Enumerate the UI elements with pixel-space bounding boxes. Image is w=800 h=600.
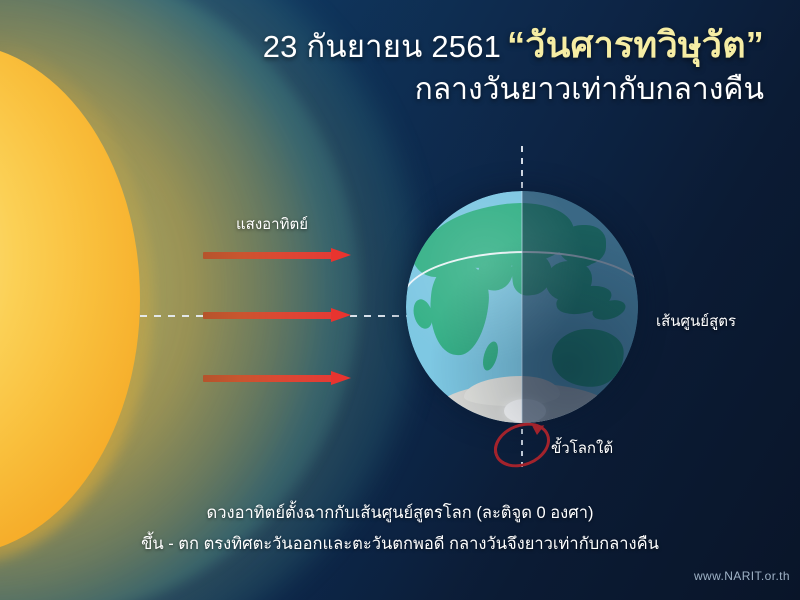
rotation-ring-overlap [487, 415, 557, 476]
arrow-head-icon [331, 248, 351, 262]
arrow-head-icon [331, 308, 351, 322]
earth-globe [406, 191, 638, 423]
arrow-shaft [203, 375, 335, 382]
page-title: 23 กันยายน 2561“วันศารทวิษุวัต” [0, 24, 764, 68]
page-subtitle: กลางวันยาวเท่ากับกลางคืน [0, 70, 764, 110]
label-equator: เส้นศูนย์สูตร [656, 309, 736, 333]
label-south-pole: ขั้วโลกใต้ [551, 436, 613, 460]
title-block: 23 กันยายน 2561“วันศารทวิษุวัต” กลางวันย… [0, 24, 790, 110]
earth-rotation-arrow-icon [493, 424, 551, 466]
footer-website-url[interactable]: www.NARIT.or.th [0, 569, 790, 583]
caption-line-2: ขึ้น - ตก ตรงทิศตะวันออกและตะวันตกพอดี ก… [0, 531, 800, 557]
title-date: 23 กันยายน 2561 [263, 29, 501, 64]
globe-shading-overlay [406, 191, 638, 423]
arrow-shaft [203, 312, 335, 319]
title-event-name: “วันศารทวิษุวัต” [507, 24, 764, 65]
label-sunlight: แสงอาทิตย์ [236, 212, 308, 236]
arrow-head-icon [331, 371, 351, 385]
caption-line-1: ดวงอาทิตย์ตั้งฉากกับเส้นศูนย์สูตรโลก (ละ… [0, 500, 800, 526]
infographic-canvas: 23 กันยายน 2561“วันศารทวิษุวัต” กลางวันย… [0, 0, 800, 600]
polar-axis-dashed-line-top [521, 146, 523, 194]
arrow-shaft [203, 252, 335, 259]
